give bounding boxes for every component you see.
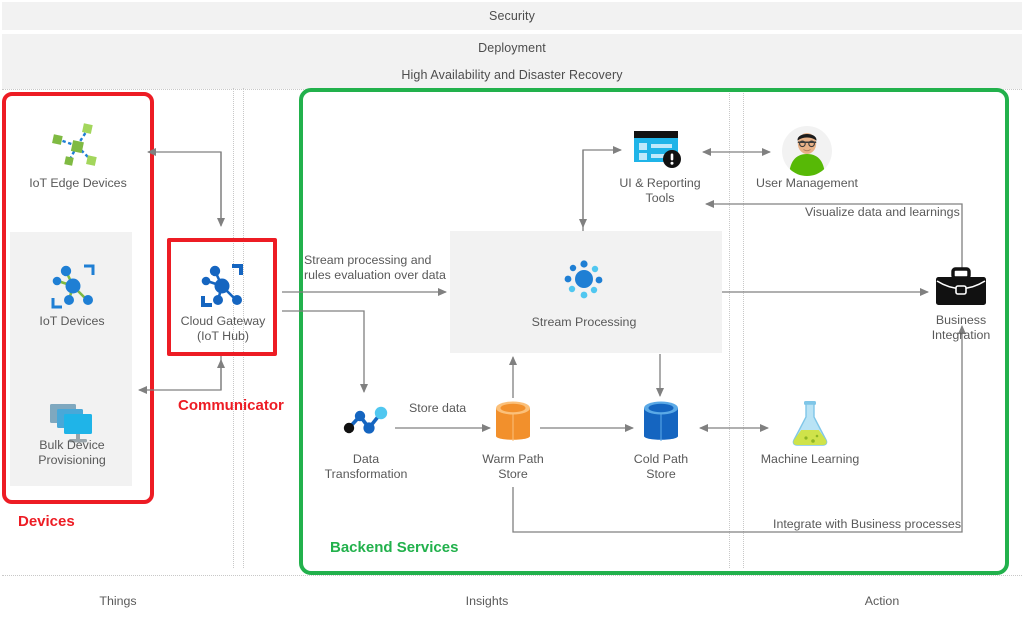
iot-edge-devices-icon xyxy=(47,122,101,174)
machine-learning-label: Machine Learning xyxy=(746,452,874,467)
backend-services-group-caption: Backend Services xyxy=(330,539,458,556)
zone-label-things: Things xyxy=(58,594,178,608)
ui-reporting-tools-icon xyxy=(634,131,684,171)
user-management-label: User Management xyxy=(739,176,875,191)
data-transformation-label: Data Transformation xyxy=(306,452,426,482)
warm-path-store-label: Warm Path Store xyxy=(461,452,565,482)
iot-architecture-diagram: Security Deployment High Availability an… xyxy=(0,0,1024,617)
banner-deployment: Deployment xyxy=(2,34,1022,62)
banner-deployment-label: Deployment xyxy=(478,41,546,55)
zone-bottom-divider xyxy=(2,575,1022,576)
zone-label-insights: Insights xyxy=(427,594,547,608)
iot-edge-devices-label: IoT Edge Devices xyxy=(6,176,150,191)
banner-high-availability: High Availability and Disaster Recovery xyxy=(2,61,1022,89)
user-management-icon xyxy=(782,126,832,176)
devices-group-caption: Devices xyxy=(18,513,75,530)
iot-devices-label: IoT Devices xyxy=(6,314,138,329)
edge-label-stream-rules: Stream processing and rules evaluation o… xyxy=(303,253,457,283)
cloud-gateway-icon xyxy=(196,262,248,312)
iot-devices-icon xyxy=(47,262,99,312)
stream-processing-icon xyxy=(563,258,605,300)
cold-path-store-label: Cold Path Store xyxy=(609,452,713,482)
warm-path-store-icon xyxy=(493,400,533,446)
business-integration-label: Business Integration xyxy=(908,313,1014,343)
cloud-gateway-label: Cloud Gateway (IoT Hub) xyxy=(163,314,283,344)
edge-label-store-data: Store data xyxy=(408,401,467,416)
edge-label-integrate: Integrate with Business processes xyxy=(772,517,962,532)
edge-label-visualize: Visualize data and learnings xyxy=(804,205,961,220)
zone-label-action: Action xyxy=(822,594,942,608)
machine-learning-icon xyxy=(789,400,831,446)
communicator-group-caption: Communicator xyxy=(178,397,284,414)
stream-processing-label: Stream Processing xyxy=(496,315,672,330)
business-integration-icon xyxy=(933,268,989,308)
banner-security: Security xyxy=(2,2,1022,30)
data-transformation-icon xyxy=(342,405,390,437)
banner-security-label: Security xyxy=(489,9,535,23)
banner-high-availability-label: High Availability and Disaster Recovery xyxy=(401,68,622,82)
ui-reporting-tools-label: UI & Reporting Tools xyxy=(604,176,716,206)
cold-path-store-icon xyxy=(641,400,681,446)
bulk-device-provisioning-label: Bulk Device Provisioning xyxy=(6,438,138,468)
